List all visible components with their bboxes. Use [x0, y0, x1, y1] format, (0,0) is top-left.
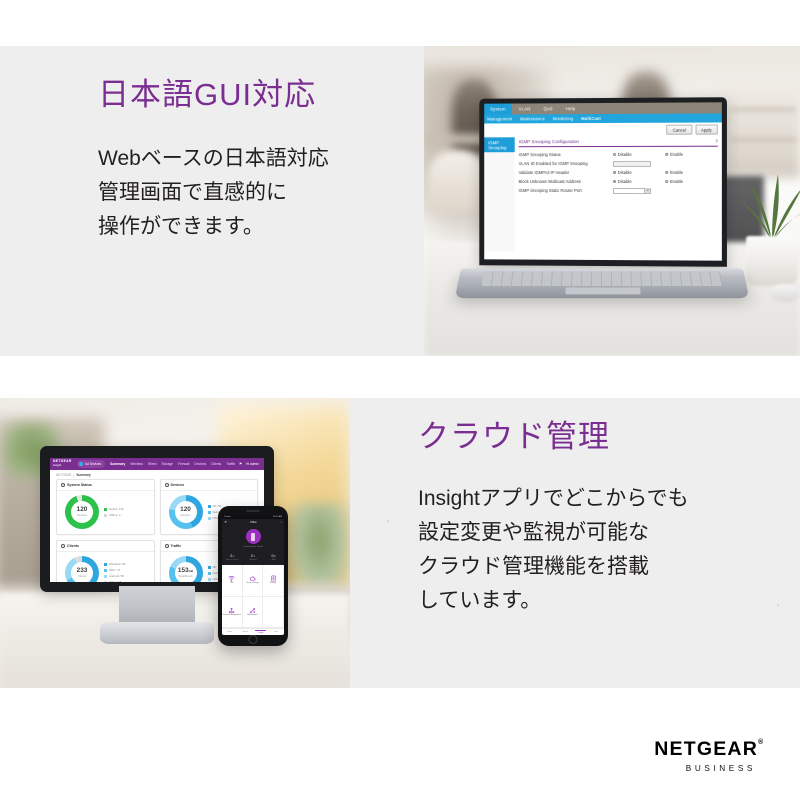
stat-access-points: 2/2 Access Points [222, 553, 243, 561]
form-row: Block Unknown Multicast Address Disable … [519, 177, 718, 186]
donut-center: 120 Devices [77, 507, 88, 517]
decorative-dot: · [386, 514, 390, 527]
field-label: IGMP Snooping Static Router Port [519, 188, 613, 193]
radio-option-enable[interactable]: Enable [665, 152, 718, 157]
stat-label: NAS [263, 559, 284, 561]
laptop-trackpad [565, 287, 640, 294]
donut-center: 120 Devices [180, 507, 191, 517]
radio-icon[interactable] [613, 153, 616, 156]
gear-icon [61, 544, 65, 548]
card-title: Traffic [171, 544, 182, 548]
stat-fraction: 0/0 [263, 553, 284, 558]
laptop-screen: System VLAN QoS Help Management Maintena… [484, 102, 722, 260]
subtab-management[interactable]: Management [487, 116, 512, 121]
tab-insight-label: Insight [258, 632, 263, 634]
add-network-icon [249, 607, 256, 614]
radio-option-disable[interactable]: Disable [613, 179, 665, 184]
legend-swatch [104, 563, 107, 566]
panel-help-icon[interactable]: ? [715, 139, 718, 144]
vlan-id-input[interactable] [613, 160, 651, 166]
nav-wired[interactable]: Wired [148, 462, 157, 466]
donut-chart: 120 Devices [169, 495, 203, 529]
legend-item: Offline: 4 [104, 513, 124, 517]
menu-icon[interactable]: ☰ [225, 521, 227, 524]
nav-clients[interactable]: Clients [211, 462, 221, 466]
firmware-icon [228, 607, 235, 614]
card-header: Devices [161, 480, 258, 491]
card-title: Devices [171, 483, 185, 487]
gear-icon [165, 483, 169, 487]
app-title[interactable]: Office [250, 521, 257, 524]
breadcrumb-root[interactable]: NETGEAR [56, 473, 71, 477]
legend-swatch [104, 508, 107, 511]
app-tile-grid: WiFi Device Settings Storage Firmware Ma… [222, 565, 284, 628]
stat-fraction: 2/2 [222, 553, 243, 558]
switch-ui-body: IGMP Snooping IGMP Snooping Configuratio… [484, 137, 722, 253]
device-dot-icon [79, 462, 84, 467]
tile-label: Storage [270, 583, 276, 585]
laptop-keyboard [481, 271, 722, 286]
radio-option-enable[interactable]: Enable [665, 170, 718, 175]
decorative-dot: · [776, 598, 780, 611]
subtab-multicast[interactable]: MultiCast [581, 116, 601, 121]
legend-swatch [208, 566, 211, 569]
tab-qos[interactable]: QoS [538, 103, 559, 114]
phone-screen: Carrier 10:41 AM ☰ Office ◔ Connected to… [222, 515, 284, 635]
legend-label: MAC: 72 [109, 568, 120, 572]
feature-section-cloud: NETGEAR Insight 1st Devices Summary Wire… [0, 398, 800, 688]
radio-label: Enable [670, 179, 683, 184]
donut-center: 233 Clients [77, 568, 88, 578]
donut-unit: Devices [180, 514, 191, 517]
legend-label: Online: 116 [109, 507, 124, 511]
legend-swatch [104, 569, 107, 572]
laptop-photo: System VLAN QoS Help Management Maintena… [424, 46, 800, 356]
radio-icon[interactable] [613, 180, 616, 183]
donut-chart: 120 Devices [65, 495, 99, 529]
tab-help[interactable]: Help [560, 103, 582, 114]
radio-label: Enable [670, 152, 683, 157]
brand-name: NETGEAR® [654, 738, 758, 761]
cloud-status-icon [246, 529, 261, 544]
donut-unit: Clients [77, 575, 88, 578]
active-tab-indicator [255, 630, 266, 631]
donut-unit: Devices [77, 514, 88, 517]
legend-swatch [104, 575, 107, 578]
stat-switches: 2/2 Switches [243, 553, 264, 561]
subtab-monitoring[interactable]: Monitoring [553, 116, 573, 121]
insight-logo: NETGEAR Insight [53, 460, 72, 467]
legend-swatch [104, 514, 107, 517]
stat-label: Switches [243, 559, 264, 561]
card-title: Clients [67, 544, 79, 548]
card-legend: Windows: 86 MAC: 72 Android: 58 [104, 562, 126, 582]
radio-label: Enable [670, 170, 683, 175]
insight-logo-sub: Insight [53, 464, 72, 467]
cloud-status-label: Connected to Cloud [222, 546, 284, 548]
legend-item: Other: 18 [104, 580, 126, 582]
laptop-lid: System VLAN QoS Help Management Maintena… [479, 97, 727, 267]
legend-swatch [208, 572, 211, 575]
brand-tagline: BUSINESS [654, 764, 756, 773]
tile-label: Add Network [247, 615, 257, 617]
account-label[interactable]: Hi admin [246, 462, 259, 466]
nav-devices[interactable]: Devices [194, 462, 206, 466]
cloud-feature-body: Insightアプリでどこからでも 設定変更や監視が可能な クラウド管理機能を搭… [418, 482, 689, 618]
tile-label: WiFi [230, 583, 234, 585]
tab-system[interactable]: System [484, 104, 511, 115]
form-row: IGMP Snooping Static Router Port ▾ [519, 186, 718, 195]
gui-text-column: 日本語GUI対応 Webベースの日本語対応 管理画面で直感的に 操作ができます。 [98, 78, 329, 244]
form-row: VLAN ID Enabled for IGMP Snooping [519, 159, 718, 168]
stat-nas: 0/0 NAS [263, 553, 284, 561]
radio-option-disable[interactable]: Disable [613, 152, 665, 157]
donut-center: 153GB Total/Month [178, 568, 193, 578]
legend-item: Online: 116 [104, 507, 124, 511]
radio-icon[interactable] [613, 171, 616, 174]
cloud-status-hero: Connected to Cloud [222, 525, 284, 551]
radio-label: Disable [618, 170, 632, 175]
legend-swatch [208, 517, 211, 520]
cloud-text-column: クラウド管理 Insightアプリでどこからでも 設定変更や監視が可能な クラウ… [418, 420, 689, 618]
card-clients[interactable]: Clients 233 Clients [56, 540, 155, 582]
field-label: VLAN ID Enabled for IGMP Snooping [519, 161, 613, 166]
tile-firmware-management[interactable]: Firmware Management [222, 597, 243, 629]
breadcrumb-current: Summary [76, 473, 91, 477]
field-label: IGMP Snooping Status [519, 152, 613, 157]
radio-icon[interactable] [665, 153, 668, 156]
brand-text: NETGEAR [654, 738, 758, 760]
field-label: Block Unknown Multicast Address [519, 179, 613, 184]
device-selector-chip[interactable]: 1st Devices [77, 460, 105, 468]
sidebar-item-igmp-snooping[interactable]: IGMP Snooping [484, 137, 514, 152]
tile-label: Firmware Management [223, 615, 241, 617]
card-header: System Status [57, 480, 154, 491]
radio-icon[interactable] [665, 180, 668, 183]
netgear-business-logo: NETGEAR® BUSINESS [654, 738, 758, 773]
panel-title-wrap: IGMP Snooping Configuration ? [519, 139, 718, 147]
tab-devices[interactable]: Devices [238, 631, 254, 633]
switch-ui-sidebar: IGMP Snooping [484, 137, 514, 251]
tile-empty [263, 597, 284, 629]
tile-add-network[interactable]: Add Network [243, 597, 264, 629]
gui-feature-title: 日本語GUI対応 [98, 78, 329, 112]
phone-tabbar: Home Devices Insight More [222, 628, 284, 635]
field-label: Validate IGMPv3 IP Header [519, 170, 613, 175]
legend-swatch [208, 505, 211, 508]
cancel-button[interactable]: Cancel [667, 125, 692, 135]
wifi-icon [228, 575, 235, 582]
card-system-status[interactable]: System Status 120 Devices [56, 479, 155, 535]
legend-item: MAC: 72 [104, 568, 126, 572]
legend-item: Android: 58 [104, 574, 126, 578]
nav-traffic[interactable]: Traffic [226, 462, 235, 466]
tile-storage[interactable]: Storage [263, 565, 284, 597]
legend-swatch [208, 578, 211, 581]
legend-item: Windows: 86 [104, 562, 126, 566]
panel-title: IGMP Snooping Configuration [519, 139, 579, 144]
smartphone-device: Carrier 10:41 AM ☰ Office ◔ Connected to… [218, 506, 288, 646]
insight-photo: NETGEAR Insight 1st Devices Summary Wire… [0, 398, 350, 688]
breadcrumb: NETGEAR | Summary [50, 470, 264, 479]
navbar-right: ⚑ Hi admin [239, 462, 261, 466]
stat-fraction: 2/2 [243, 553, 264, 558]
background-plant [288, 504, 350, 596]
apply-button[interactable]: Apply [695, 125, 718, 135]
nav-wireless[interactable]: Wireless [130, 462, 143, 466]
tile-device-settings[interactable]: Device Settings [243, 565, 264, 597]
legend-swatch [104, 581, 107, 583]
trademark-icon: ® [758, 739, 764, 746]
gear-icon [165, 544, 169, 548]
tab-insight[interactable]: Insight [253, 630, 269, 634]
stat-label: Access Points [222, 559, 243, 561]
insight-navbar: NETGEAR Insight 1st Devices Summary Wire… [50, 458, 264, 470]
carrier-label: Carrier [224, 516, 231, 518]
phone-speaker [246, 510, 260, 512]
static-router-port-select[interactable]: ▾ [613, 188, 651, 194]
device-selector-label: 1st Devices [85, 462, 101, 466]
legend-label: AP: 52 [213, 504, 222, 508]
tab-vlan[interactable]: VLAN [513, 103, 537, 114]
nav-summary[interactable]: Summary [110, 462, 125, 466]
tab-home[interactable]: Home [222, 631, 238, 633]
stat-denominator: 2 [254, 555, 255, 558]
card-title: System Status [67, 483, 92, 487]
breadcrumb-sep: | [73, 473, 74, 477]
legend-label: Offline: 4 [109, 513, 121, 517]
stat-denominator: 2 [233, 555, 234, 558]
chevron-down-icon[interactable]: ▾ [644, 188, 650, 193]
stat-denominator: 0 [274, 555, 275, 558]
nav-storage[interactable]: Storage [161, 462, 173, 466]
gui-feature-body: Webベースの日本語対応 管理画面で直感的に 操作ができます。 [98, 142, 329, 244]
cloud-feature-title: クラウド管理 [418, 420, 689, 454]
monitor-stand [100, 622, 214, 644]
form-row: IGMP Snooping Status Disable Enable [519, 150, 718, 159]
donut-chart: 153GB Total/Month [169, 556, 203, 582]
card-body: 233 Clients Windows: 86 [57, 552, 154, 582]
radio-label: Disable [618, 152, 632, 157]
gear-icon [61, 483, 65, 487]
laptop-base [455, 268, 749, 298]
legend-label: Other: 18 [109, 580, 121, 582]
static-router-port-wrap[interactable]: ▾ [613, 188, 665, 194]
radio-option-enable[interactable]: Enable [665, 179, 718, 184]
switch-ui-main-panel: IGMP Snooping Configuration ? IGMP Snoop… [515, 137, 722, 253]
radio-icon[interactable] [665, 171, 668, 174]
home-button[interactable] [249, 635, 258, 644]
radio-label: Disable [618, 179, 632, 184]
card-header: Clients [57, 541, 154, 552]
nav-firewall[interactable]: Firewall [178, 462, 189, 466]
legend-swatch [208, 511, 211, 514]
vlan-id-input-wrap[interactable] [613, 160, 665, 166]
donut-value-unit: GB [189, 569, 194, 573]
tab-more[interactable]: More [269, 631, 285, 633]
footer: NETGEAR® BUSINESS [0, 688, 800, 800]
legend-label: Android: 58 [109, 574, 124, 578]
device-stats-row: 2/2 Access Points 2/2 Switches 0/0 NAS [222, 551, 284, 565]
form-row: Validate IGMPv3 IP Header Disable Enable [519, 168, 718, 177]
notification-icon[interactable]: ◔ [280, 521, 282, 524]
feature-section-gui: 日本語GUI対応 Webベースの日本語対応 管理画面で直感的に 操作ができます。 [0, 46, 800, 356]
donut-unit: Total/Month [178, 575, 193, 578]
tile-label: Device Settings [246, 583, 258, 585]
donut-chart: 233 Clients [65, 556, 99, 582]
legend-label: Windows: 86 [109, 562, 126, 566]
radio-option-disable[interactable]: Disable [613, 170, 665, 175]
card-body: 120 Devices Online: 116 [57, 491, 154, 529]
laptop-device: System VLAN QoS Help Management Maintena… [476, 98, 756, 318]
computer-mouse [770, 284, 800, 302]
subtab-maintenance[interactable]: Maintenance [520, 116, 545, 121]
tile-wifi[interactable]: WiFi [222, 565, 243, 597]
clock-label: 10:41 AM [273, 516, 282, 518]
switch-ui-actionbar: Cancel Apply [484, 122, 722, 137]
notifications-icon[interactable]: ⚑ [239, 462, 242, 466]
card-legend: Online: 116 Offline: 4 [104, 507, 124, 517]
